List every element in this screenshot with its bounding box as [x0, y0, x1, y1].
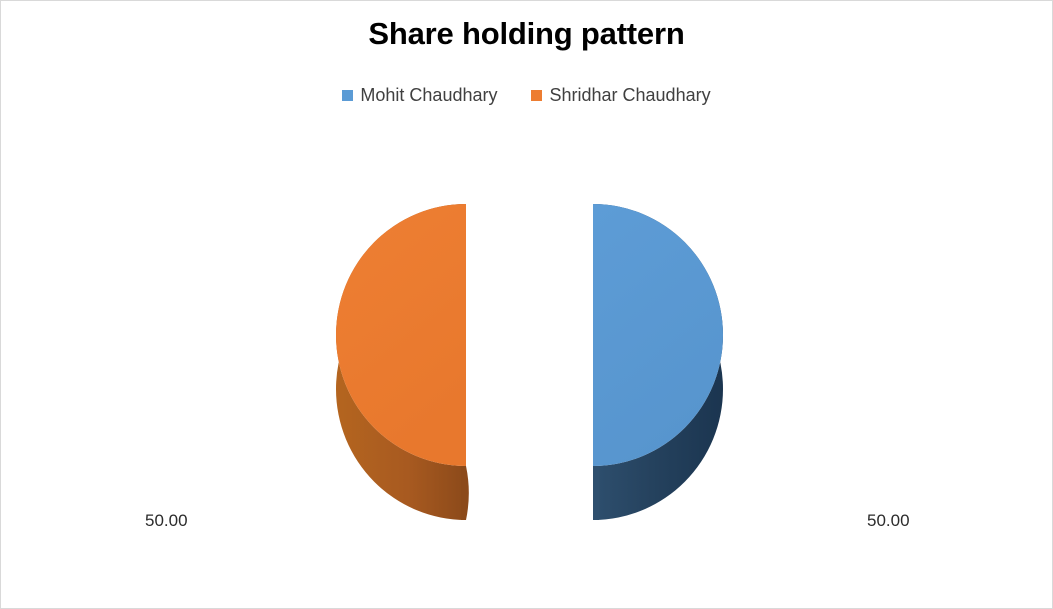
pie-slice-shridhar-edge	[466, 466, 469, 520]
pie-slice-shridhar-chaudhary[interactable]	[336, 204, 469, 520]
legend-item-shridhar-chaudhary[interactable]: Shridhar Chaudhary	[531, 86, 710, 104]
chart-legend: Mohit Chaudhary Shridhar Chaudhary	[1, 86, 1052, 104]
pie-slice-mohit-inner-wall	[593, 466, 599, 520]
data-label-shridhar-chaudhary: 50.00	[145, 512, 188, 529]
legend-item-mohit-chaudhary[interactable]: Mohit Chaudhary	[342, 86, 497, 104]
legend-swatch-icon-orange	[531, 90, 542, 101]
legend-label-mohit-chaudhary: Mohit Chaudhary	[360, 86, 497, 104]
plot-area: 50.00 50.00	[1, 131, 1053, 591]
data-label-mohit-chaudhary: 50.00	[867, 512, 910, 529]
chart-title: Share holding pattern	[1, 17, 1052, 51]
pie-slice-shridhar-inner-wall	[461, 466, 466, 520]
legend-label-shridhar-chaudhary: Shridhar Chaudhary	[549, 86, 710, 104]
pie-slice-mohit-chaudhary[interactable]	[593, 204, 723, 520]
legend-swatch-icon-blue	[342, 90, 353, 101]
chart-container: Share holding pattern Mohit Chaudhary Sh…	[0, 0, 1053, 609]
